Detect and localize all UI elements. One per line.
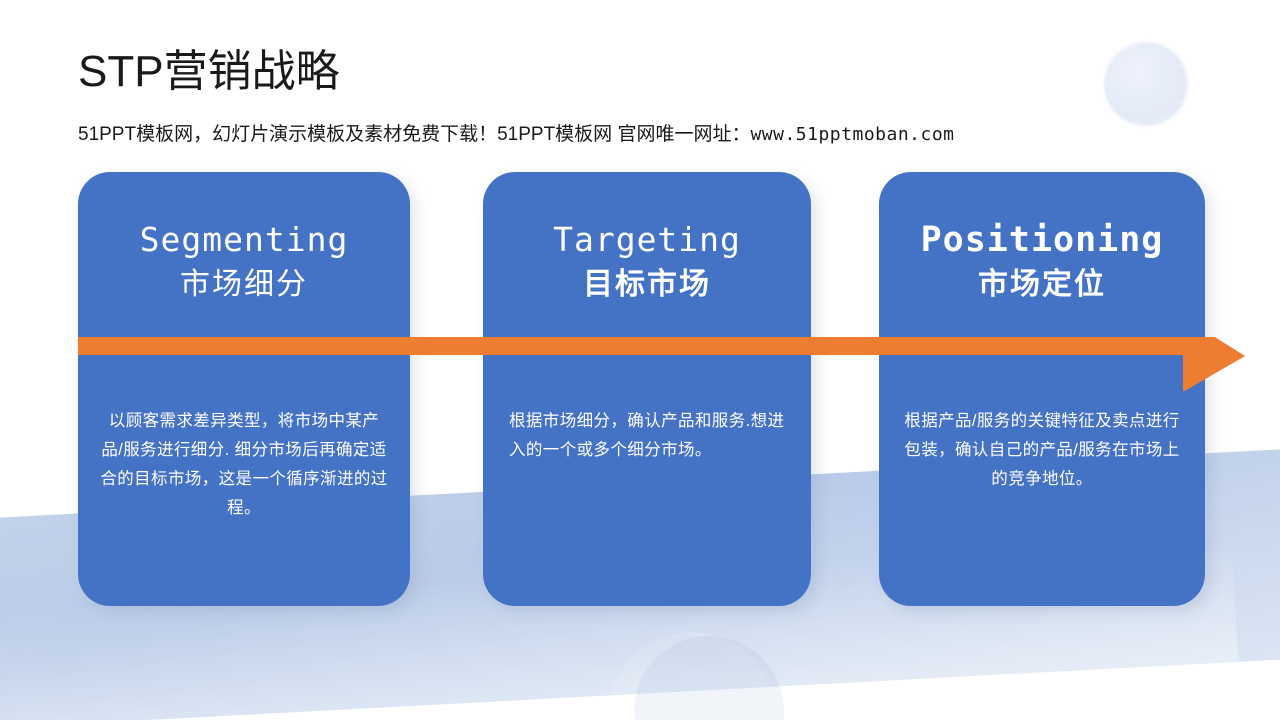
card-positioning-body: 根据产品/服务的关键特征及卖点进行包装，确认自己的产品/服务在市场上的竞争地位。 — [901, 407, 1183, 494]
card-segmenting-title-en: Segmenting — [78, 218, 410, 262]
card-segmenting-body: 以顾客需求差异类型，将市场中某产品/服务进行细分. 细分市场后再确定适合的目标市… — [100, 407, 388, 523]
card-segmenting[interactable]: Segmenting 市场细分 以顾客需求差异类型，将市场中某产品/服务进行细分… — [78, 172, 410, 606]
card-positioning-header: Positioning 市场定位 — [879, 218, 1205, 306]
slide-canvas: STP营销战略 51PPT模板网，幻灯片演示模板及素材免费下载！51PPT模板网… — [0, 0, 1280, 720]
card-targeting-title-cn: 目标市场 — [483, 264, 811, 306]
card-targeting[interactable]: Targeting 目标市场 根据市场细分，确认产品和服务.想进入的一个或多个细… — [483, 172, 811, 606]
card-segmenting-header: Segmenting 市场细分 — [78, 218, 410, 306]
card-targeting-body: 根据市场细分，确认产品和服务.想进入的一个或多个细分市场。 — [509, 407, 789, 465]
card-positioning-title-en: Positioning — [879, 218, 1205, 262]
card-segmenting-title-cn: 市场细分 — [78, 264, 410, 306]
card-positioning[interactable]: Positioning 市场定位 根据产品/服务的关键特征及卖点进行包装，确认自… — [879, 172, 1205, 606]
card-positioning-title-cn: 市场定位 — [879, 264, 1205, 306]
stp-card-group: Segmenting 市场细分 以顾客需求差异类型，将市场中某产品/服务进行细分… — [0, 0, 1280, 720]
card-targeting-header: Targeting 目标市场 — [483, 218, 811, 306]
card-targeting-title-en: Targeting — [483, 218, 811, 262]
